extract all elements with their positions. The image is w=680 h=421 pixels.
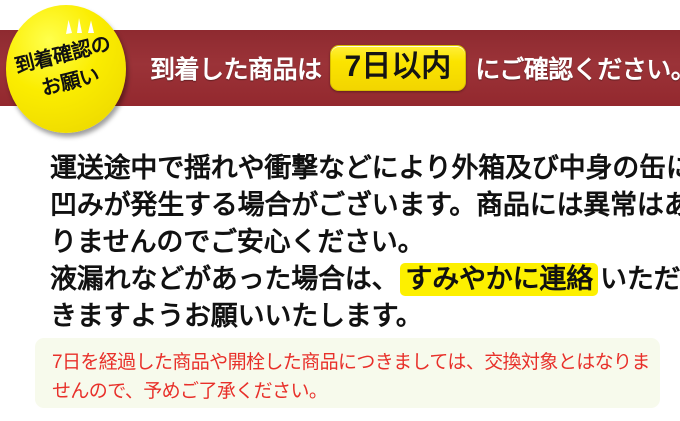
note-line-1: 7日を経過した商品や開栓した商品につきましては、交換対象とはなりま xyxy=(52,348,652,377)
sparkle-icon xyxy=(63,17,97,35)
note-box: 7日を経過した商品や開栓した商品につきましては、交換対象とはなりま せんので、予… xyxy=(35,338,660,408)
banner-trail-text: にご確認ください。 xyxy=(475,50,680,86)
contact-highlight: すみやかに連絡 xyxy=(400,263,598,296)
body-line-2: 凹みが発生する場合がございます。商品には異常はあ xyxy=(50,187,665,224)
body-copy: 運送途中で揺れや衝撃などにより外箱及び中身の缶に 凹みが発生する場合がございます… xyxy=(50,150,665,335)
body-line-3: りませんのでご安心ください。 xyxy=(50,224,665,261)
note-inner: 7日を経過した商品や開栓した商品につきましては、交換対象とはなりま せんので、予… xyxy=(52,348,652,406)
banner-message: 到着した商品は 7日以内 にご確認ください。 xyxy=(150,30,680,106)
note-line-2: せんので、予めご了承ください。 xyxy=(52,377,652,406)
deadline-tag: 7日以内 xyxy=(330,45,467,91)
body-line-1: 運送途中で揺れや衝撃などにより外箱及び中身の缶に xyxy=(50,150,665,187)
banner-lead-text: 到着した商品は xyxy=(150,50,322,86)
body-line-5: きますようお願いいたします。 xyxy=(50,298,665,335)
body-line-4-suffix: いただ xyxy=(600,264,680,294)
body-line-4-prefix: 液漏れなどがあった場合は、 xyxy=(50,264,398,294)
body-line-4: 液漏れなどがあった場合は、すみやかに連絡いただ xyxy=(50,261,665,298)
